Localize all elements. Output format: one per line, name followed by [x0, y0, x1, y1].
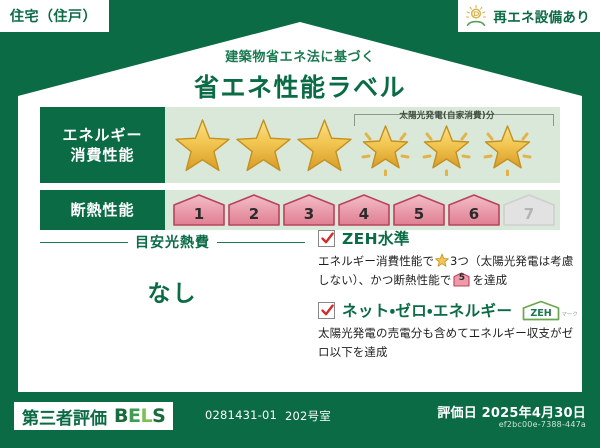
evaluation-date: 評価日 2025年4月30日 [437, 402, 586, 421]
renewable-energy-tag: 再エネ設備あり [458, 0, 600, 32]
bels-wordmark: BELS [114, 407, 165, 426]
star-icon [173, 114, 232, 176]
performance-grid: エネルギー 消費性能 太陽光発電(自家消費)分 [40, 107, 560, 237]
energy-label-line1: エネルギー [62, 125, 142, 145]
star-sparkle-icon [478, 114, 537, 176]
third-party-evaluation-label: 第三者評価 [22, 404, 107, 429]
star-sparkle-icon [356, 114, 415, 176]
building-type-tag: 住宅（住戸） [0, 0, 109, 32]
net-zero-energy-description: 太陽光発電の売電分も含めてエネルギー収支がゼロ以下を達成 [318, 324, 580, 361]
zeh-standard-check-item: ZEH水準 エネルギー消費性能で3つ（太陽光発電は考慮しない）、かつ断熱性能で5… [318, 227, 580, 289]
title-block: 建築物省エネ法に基づく 省エネ性能ラベル [18, 46, 582, 104]
checkbox-checked[interactable] [318, 302, 335, 319]
bels-badge: 第三者評価 BELS [14, 402, 173, 430]
insulation-level-badge-inactive: 7 [503, 194, 555, 226]
insulation-level-inline-badge: 5 [453, 272, 470, 287]
insulation-level-number: 7 [524, 205, 534, 226]
insulation-level-number: 6 [469, 205, 479, 226]
zeh-logo-trademark: マーク [561, 313, 578, 321]
energy-label-line2: 消費性能 [70, 145, 134, 165]
estimated-utility-cost-title: 目安光熱費 [135, 232, 210, 252]
energy-rating-cell: 太陽光発電(自家消費)分 [165, 107, 560, 183]
room-number: 202号室 [285, 408, 331, 424]
zeh-standard-title: ZEH水準 [342, 227, 410, 249]
insulation-level-badge: 2 [228, 194, 280, 226]
divider-left [40, 242, 128, 243]
renewable-energy-label: 再エネ設備あり [493, 6, 590, 26]
document-hash: ef2bc00e-7388-447a [499, 420, 586, 429]
energy-performance-label: 建築物省エネ法に基づく 省エネ性能ラベル エネルギー 消費性能 太陽光発電(自家… [0, 0, 600, 448]
insulation-level-number: 1 [194, 205, 204, 226]
insulation-level-number: 2 [249, 205, 259, 226]
certificate-id: 0281431-01 [205, 408, 277, 422]
label-subtitle: 建築物省エネ法に基づく [18, 46, 582, 65]
star-icon [234, 114, 293, 176]
insulation-level-badge: 3 [283, 194, 335, 226]
net-zero-energy-check-item: ネット・ゼロ・エネルギー ZEH マーク 太陽光発電の売電分も含めてエネルギー収… [318, 299, 580, 361]
insulation-performance-label-cell: 断熱性能 [40, 190, 165, 230]
svg-text:ZEH: ZEH [531, 308, 552, 319]
insulation-performance-row: 断熱性能 1 2 3 [40, 190, 560, 230]
page-title: 省エネ性能ラベル [18, 68, 582, 104]
estimated-utility-cost-header: 目安光熱費 [40, 232, 305, 252]
zeh-logo-icon: ZEH マーク [522, 300, 578, 321]
divider-right [217, 242, 305, 243]
insulation-level-badge: 1 [173, 194, 225, 226]
estimated-utility-cost-value: なし [40, 274, 305, 308]
net-zero-energy-title: ネット・ゼロ・エネルギー [342, 299, 512, 321]
checkbox-checked[interactable] [318, 230, 335, 247]
house-body-panel: 建築物省エネ法に基づく 省エネ性能ラベル エネルギー 消費性能 太陽光発電(自家… [18, 22, 582, 392]
star-icon [435, 253, 449, 267]
insulation-level-badge: 6 [448, 194, 500, 226]
star-icon [295, 114, 354, 176]
insulation-level-badge: 4 [338, 194, 390, 226]
footer: 第三者評価 BELS 0281431-01 202号室 評価日 2025年4月3… [0, 396, 600, 448]
energy-performance-label-cell: エネルギー 消費性能 [40, 107, 165, 183]
energy-performance-row: エネルギー 消費性能 太陽光発電(自家消費)分 [40, 107, 560, 183]
star-sparkle-icon [417, 114, 476, 176]
insulation-level-badge: 5 [393, 194, 445, 226]
zeh-desc-part3: を達成 [472, 273, 507, 287]
star-rating [165, 107, 560, 183]
insulation-level-number: 4 [359, 205, 369, 226]
zeh-standard-description: エネルギー消費性能で3つ（太陽光発電は考慮しない）、かつ断熱性能で5を達成 [318, 252, 580, 289]
insulation-level-inline-number: 5 [453, 272, 470, 287]
insulation-level-number: 5 [414, 205, 424, 226]
insulation-level-number: 3 [304, 205, 314, 226]
building-type-label: 住宅（住戸） [10, 6, 97, 26]
insulation-level-scale: 1 2 3 4 [165, 190, 560, 230]
estimated-utility-cost-block: 目安光熱費 なし [40, 232, 305, 308]
zeh-standard-check-header: ZEH水準 [318, 227, 580, 249]
certification-checks: ZEH水準 エネルギー消費性能で3つ（太陽光発電は考慮しない）、かつ断熱性能で5… [318, 227, 580, 372]
insulation-rating-cell: 1 2 3 4 [165, 190, 560, 230]
net-zero-energy-check-header: ネット・ゼロ・エネルギー ZEH マーク [318, 299, 580, 321]
zeh-desc-part1: エネルギー消費性能で [318, 254, 434, 268]
sun-solar-icon [464, 4, 488, 28]
